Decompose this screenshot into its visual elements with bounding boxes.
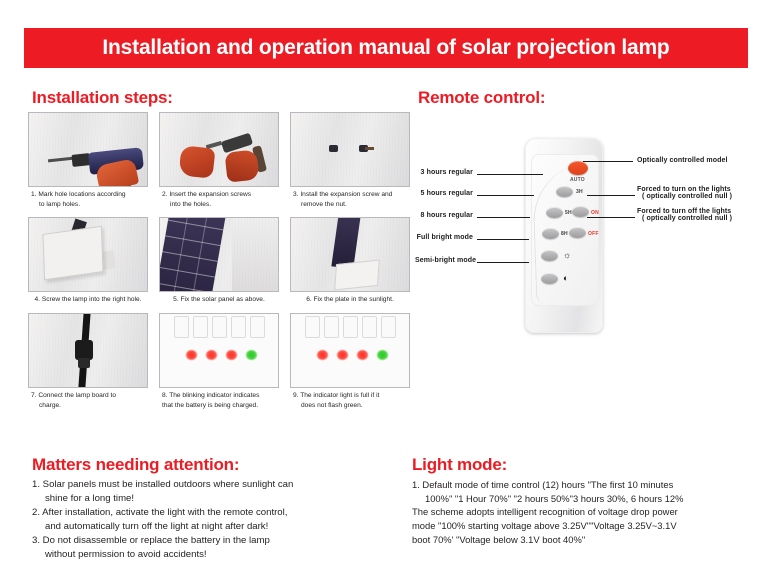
remote-button-on[interactable] <box>572 206 589 217</box>
step-photo-solar-panel <box>159 217 279 292</box>
light-mode-line: mode "100% starting voltage above 3.25V"… <box>412 519 768 533</box>
step-photo-hammer <box>159 112 279 187</box>
label-line-2: ( optically controlled null ) <box>637 193 732 200</box>
remote-button-8h-label: 8H <box>561 231 568 237</box>
label-8-hours-regular: 8 hours regular <box>415 212 473 219</box>
installation-steps-grid: 1. Mark hole locations according to lamp… <box>28 112 410 418</box>
light-mode-line: boot 70%' "Voltage below 3.1V boot 40%" <box>412 533 768 547</box>
step-photo-plate-sunlight <box>290 217 410 292</box>
lead-line-semi-bright <box>477 262 529 263</box>
step-cell: 1. Mark hole locations according to lamp… <box>28 112 148 217</box>
remote-button-semi-bright[interactable] <box>541 273 558 284</box>
step-photo-leds-full <box>290 313 410 388</box>
remote-button-8h[interactable] <box>542 228 559 239</box>
matters-body: 1. Solar panels must be installed outdoo… <box>32 478 412 561</box>
remote-keypad-panel: AUTO 3H 5H ON 8H OFF ☼ <box>531 154 599 306</box>
remote-button-3h[interactable] <box>556 186 573 197</box>
light-mode-heading: Light mode: <box>412 455 507 475</box>
matters-line: and automatically turn off the light at … <box>32 520 412 534</box>
step-photo-screws <box>290 112 410 187</box>
remote-body: AUTO 3H 5H ON 8H OFF ☼ <box>525 138 603 333</box>
installation-steps-heading: Installation steps: <box>32 88 173 108</box>
lead-line-3h <box>477 174 543 175</box>
remote-button-3h-label: 3H <box>576 189 583 195</box>
lead-line-optically-controlled <box>583 161 633 162</box>
lead-line-full-bright <box>477 239 529 240</box>
lead-line-forced-off <box>587 217 635 218</box>
step-cell: 3. Install the expansion screw and remov… <box>290 112 410 217</box>
sun-icon: ☼ <box>563 251 571 260</box>
matters-line: shine for a long time! <box>32 492 412 506</box>
step-caption: 5. Fix the solar panel as above. <box>159 292 279 312</box>
header-bar: Installation and operation manual of sol… <box>24 28 748 68</box>
step-caption: 1. Mark hole locations according to lamp… <box>28 187 148 217</box>
manual-page: Installation and operation manual of sol… <box>0 0 772 570</box>
light-mode-line: 1. Default mode of time control (12) hou… <box>412 478 768 492</box>
step-cell: 5. Fix the solar panel as above. <box>159 217 279 312</box>
label-forced-turn-off: Forced to turn off the lights ( opticall… <box>637 208 732 222</box>
remote-control-heading: Remote control: <box>418 88 545 108</box>
step-photo-lamp-plate <box>28 217 148 292</box>
label-line-1: Optically controlled model <box>637 157 728 164</box>
step-caption: 3. Install the expansion screw and remov… <box>290 187 410 217</box>
step-caption: 4. Screw the lamp into the right hole. <box>28 292 148 312</box>
remote-button-off[interactable] <box>569 227 586 238</box>
lead-line-forced-on <box>587 195 635 196</box>
step-cell: 8. The blinking indicator indicates that… <box>159 313 279 418</box>
step-cell: 4. Screw the lamp into the right hole. <box>28 217 148 312</box>
remote-button-auto[interactable] <box>568 161 588 175</box>
label-line-1: Forced to turn on the lights <box>637 186 731 193</box>
remote-button-auto-label: AUTO <box>570 177 585 183</box>
label-full-bright-mode: Full bright mode <box>415 234 473 241</box>
remote-button-5h-label: 5H <box>565 210 572 216</box>
lead-line-5h <box>477 195 534 196</box>
remote-button-5h[interactable] <box>546 207 563 218</box>
step-photo-cable <box>28 313 148 388</box>
matters-line: without permission to avoid accidents! <box>32 548 412 562</box>
label-forced-turn-on: Forced to turn on the lights ( optically… <box>637 186 732 200</box>
light-mode-line: The scheme adopts intelligent recognitio… <box>412 505 768 519</box>
step-cell: 7. Connect the lamp board to charge. <box>28 313 148 418</box>
remote-button-off-label: OFF <box>588 231 599 237</box>
step-caption: 9. The indicator light is full if it doe… <box>290 388 410 418</box>
light-mode-body: 1. Default mode of time control (12) hou… <box>412 478 768 546</box>
remote-button-on-label: ON <box>591 210 599 216</box>
label-3-hours-regular: 3 hours regular <box>415 169 473 176</box>
step-caption: 7. Connect the lamp board to charge. <box>28 388 148 418</box>
step-cell: 2. Insert the expansion screws into the … <box>159 112 279 217</box>
label-line-2: ( optically controlled null ) <box>637 215 732 222</box>
matters-line: 1. Solar panels must be installed outdoo… <box>32 478 412 492</box>
matters-line: 2. After installation, activate the ligh… <box>32 506 412 520</box>
light-mode-line: 100%" "1 Hour 70%" "2 hours 50%"3 hours … <box>412 492 768 506</box>
step-cell: 6. Fix the plate in the sunlight. <box>290 217 410 312</box>
remote-button-full-bright[interactable] <box>541 250 558 261</box>
matters-line: 3. Do not disassemble or replace the bat… <box>32 534 412 548</box>
label-5-hours-regular: 5 hours regular <box>415 190 473 197</box>
step-caption: 6. Fix the plate in the sunlight. <box>290 292 410 312</box>
label-optically-controlled-model: Optically controlled model <box>637 157 728 164</box>
step-photo-drill <box>28 112 148 187</box>
step-caption: 2. Insert the expansion screws into the … <box>159 187 279 217</box>
lead-line-8h <box>477 217 530 218</box>
remote-control-diagram: AUTO 3H 5H ON 8H OFF ☼ <box>415 130 767 345</box>
step-caption: 8. The blinking indicator indicates that… <box>159 388 279 418</box>
label-line-1: Forced to turn off the lights <box>637 208 731 215</box>
step-cell: 9. The indicator light is full if it doe… <box>290 313 410 418</box>
page-title: Installation and operation manual of sol… <box>102 36 669 60</box>
matters-heading: Matters needing attention: <box>32 455 239 475</box>
step-photo-leds-charging <box>159 313 279 388</box>
label-semi-bright-mode: Semi-bright mode <box>415 257 473 264</box>
half-sun-icon: ◐ <box>563 274 568 283</box>
